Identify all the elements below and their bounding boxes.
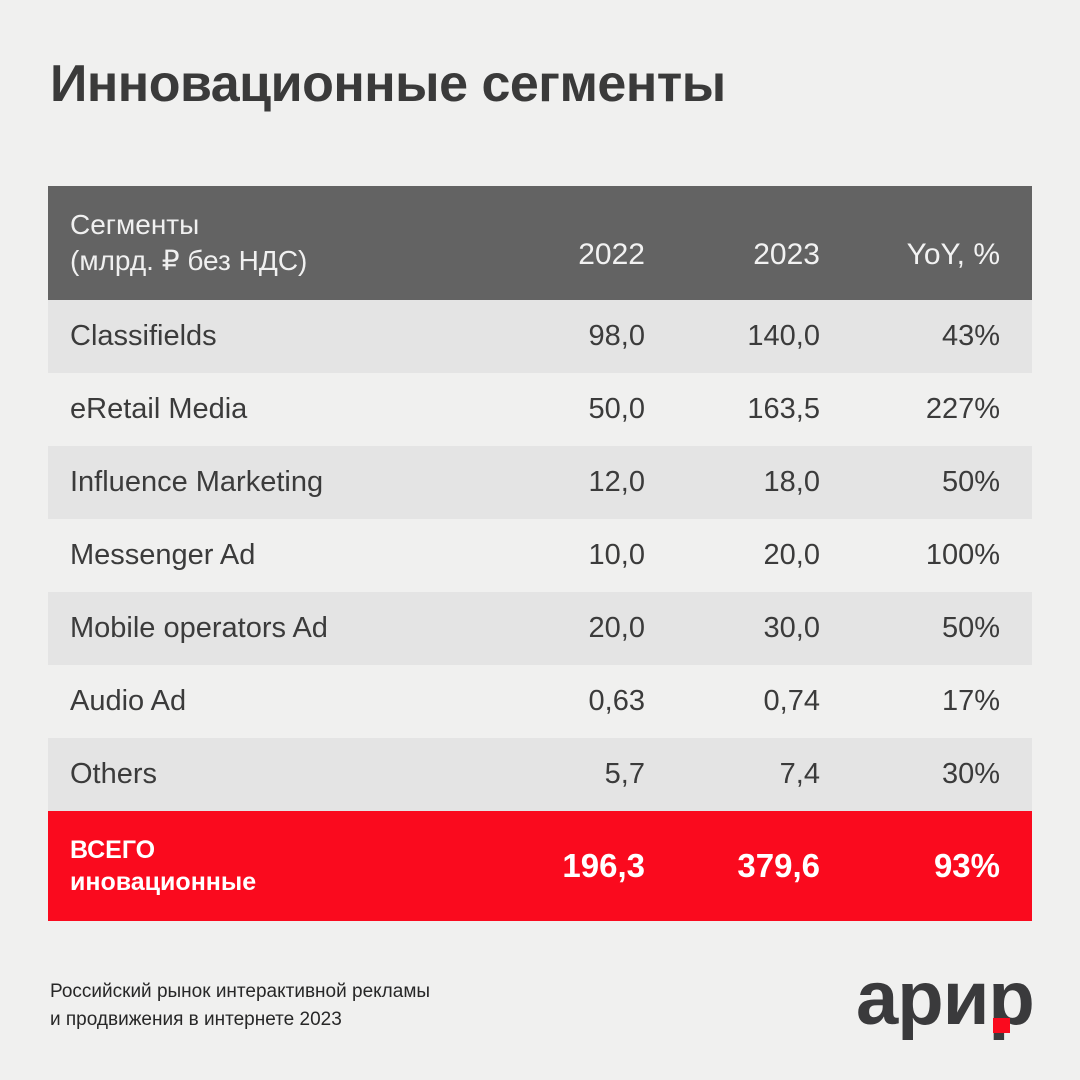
cell-yoy: 50% (828, 612, 1032, 645)
table-row: Messenger Ad 10,0 20,0 100% (48, 519, 1032, 592)
cell-total-2022: 196,3 (478, 847, 653, 885)
cell-yoy: 17% (828, 685, 1032, 718)
footer-source-note-line2: и продвижения в интернете 2023 (50, 1006, 430, 1034)
cell-segment: eRetail Media (48, 393, 478, 426)
cell-total-label-line2: иновационные (70, 866, 478, 899)
cell-segment: Others (48, 758, 478, 791)
footer-source-note: Российский рынок интерактивной рекламы и… (50, 978, 430, 1033)
cell-segment: Influence Marketing (48, 466, 478, 499)
column-header-2023: 2023 (653, 214, 828, 272)
cell-2023: 0,74 (653, 685, 828, 718)
cell-2022: 20,0 (478, 612, 653, 645)
column-header-2022: 2022 (478, 214, 653, 272)
cell-total-label-line1: ВСЕГО (70, 834, 478, 867)
arir-logo-red-square-icon (993, 1018, 1010, 1033)
cell-2022: 12,0 (478, 466, 653, 499)
cell-segment: Audio Ad (48, 685, 478, 718)
cell-segment: Messenger Ad (48, 539, 478, 572)
cell-segment: Mobile operators Ad (48, 612, 478, 645)
cell-total-2023: 379,6 (653, 847, 828, 885)
table-row: Others 5,7 7,4 30% (48, 738, 1032, 811)
cell-yoy: 227% (828, 393, 1032, 426)
cell-2022: 5,7 (478, 758, 653, 791)
cell-2023: 18,0 (653, 466, 828, 499)
cell-2022: 98,0 (478, 320, 653, 353)
cell-2022: 50,0 (478, 393, 653, 426)
column-header-segments-line2: (млрд. ₽ без НДС) (70, 243, 478, 279)
cell-2022: 0,63 (478, 685, 653, 718)
table-row: Mobile operators Ad 20,0 30,0 50% (48, 592, 1032, 665)
footer-source-note-line1: Российский рынок интерактивной рекламы (50, 978, 430, 1006)
table-row: eRetail Media 50,0 163,5 227% (48, 373, 1032, 446)
table-total-row: ВСЕГО иновационные 196,3 379,6 93% (48, 811, 1032, 921)
table-row: Influence Marketing 12,0 18,0 50% (48, 446, 1032, 519)
arir-logo: арир (856, 963, 1038, 1035)
table-row: Audio Ad 0,63 0,74 17% (48, 665, 1032, 738)
segments-table: Сегменты (млрд. ₽ без НДС) 2022 2023 YoY… (48, 186, 1032, 921)
cell-2023: 163,5 (653, 393, 828, 426)
cell-total-label: ВСЕГО иновационные (48, 834, 478, 899)
cell-2023: 140,0 (653, 320, 828, 353)
cell-segment: Classifields (48, 320, 478, 353)
column-header-segments-line1: Сегменты (70, 207, 478, 243)
cell-yoy: 50% (828, 466, 1032, 499)
cell-total-yoy: 93% (828, 847, 1032, 885)
column-header-yoy: YoY, % (828, 214, 1032, 272)
page-title: Инновационные сегменты (50, 57, 726, 112)
table-header-row: Сегменты (млрд. ₽ без НДС) 2022 2023 YoY… (48, 186, 1032, 300)
cell-2023: 30,0 (653, 612, 828, 645)
cell-2023: 20,0 (653, 539, 828, 572)
table-row: Classifields 98,0 140,0 43% (48, 300, 1032, 373)
cell-2023: 7,4 (653, 758, 828, 791)
cell-2022: 10,0 (478, 539, 653, 572)
infographic-page: Инновационные сегменты Сегменты (млрд. ₽… (0, 0, 1080, 1080)
column-header-segments: Сегменты (млрд. ₽ без НДС) (48, 207, 478, 278)
cell-yoy: 100% (828, 539, 1032, 572)
cell-yoy: 43% (828, 320, 1032, 353)
cell-yoy: 30% (828, 758, 1032, 791)
